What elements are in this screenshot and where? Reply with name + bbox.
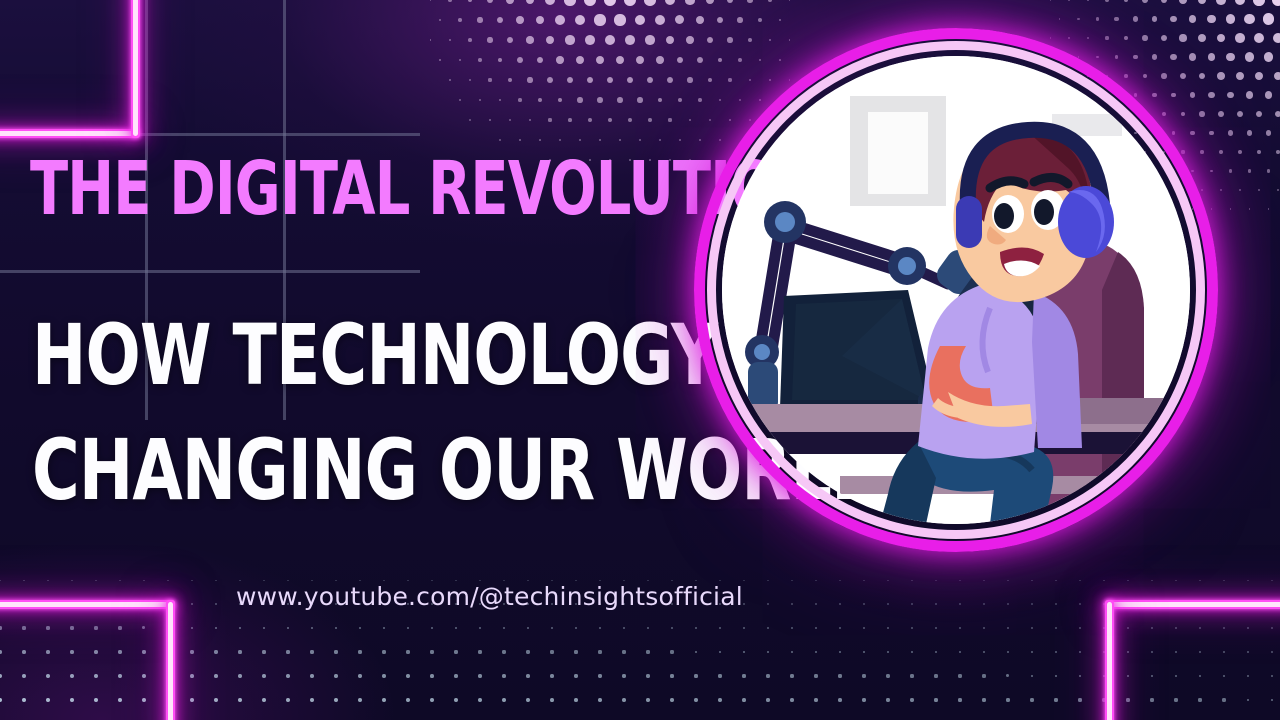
circular-image-frame xyxy=(694,28,1218,552)
channel-url-text: www.youtube.com/@techinsightsofficial xyxy=(236,582,743,611)
bracket-segment-horizontal xyxy=(1105,600,1280,609)
bracket-segment-vertical xyxy=(166,600,175,720)
thumbnail-canvas: THE DIGITAL REVOLUTION HOW TECHNOLOGY IS… xyxy=(0,0,1280,720)
corner-bracket-top-left xyxy=(0,0,140,138)
bracket-segment-horizontal xyxy=(0,129,140,138)
bracket-segment-horizontal xyxy=(0,600,175,609)
corner-bracket-bottom-left xyxy=(0,600,175,720)
bracket-segment-vertical xyxy=(131,0,140,138)
grid-line-horizontal-2 xyxy=(0,270,420,273)
title-line-1: HOW TECHNOLOGY IS xyxy=(32,313,808,397)
corner-bracket-bottom-right xyxy=(1105,600,1280,720)
bracket-segment-vertical xyxy=(1105,600,1114,720)
podcaster-illustration xyxy=(722,56,1190,524)
